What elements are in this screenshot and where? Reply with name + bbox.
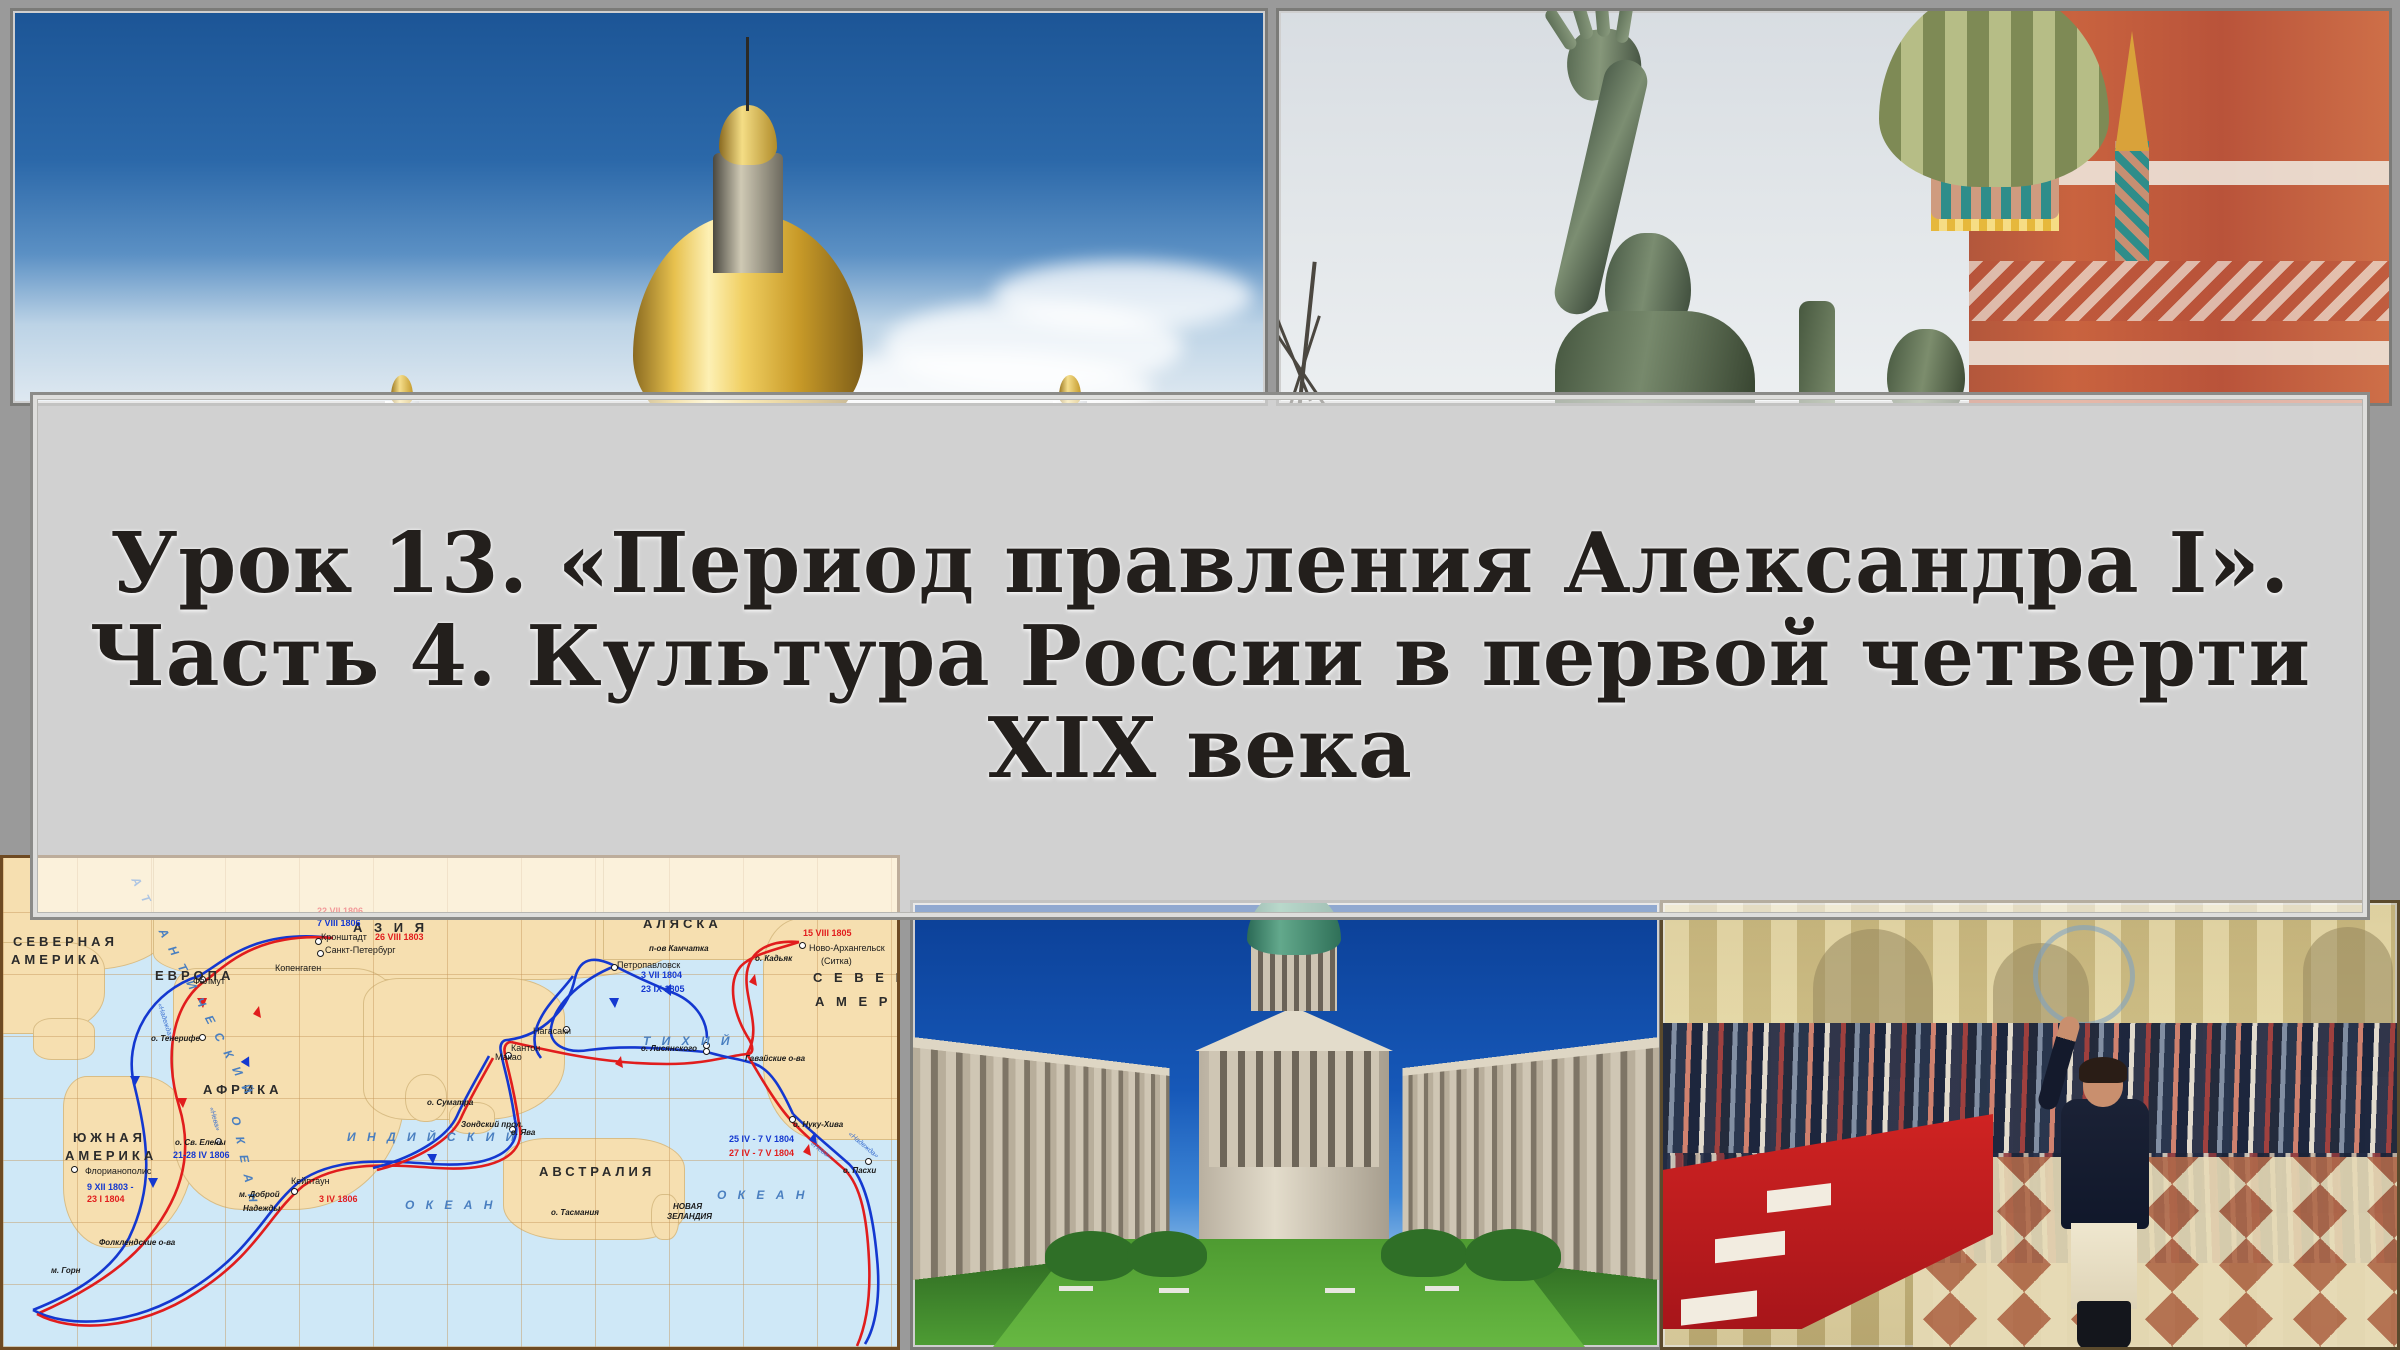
st-basil-gold-spire [2115, 31, 2149, 151]
map-label-continent: С Е В Е Р [813, 970, 900, 985]
map-label-island: Гавайские о-ва [745, 1054, 805, 1063]
map-label-island: о. Тасмания [551, 1208, 599, 1217]
map-label-city: Макао [495, 1052, 522, 1062]
map-label-date-red: 3 IV 1806 [319, 1194, 358, 1204]
isaac-cupola [719, 105, 777, 165]
map-label-city: Петропавловск [617, 960, 680, 970]
map-label-island: м. Доброй [239, 1190, 280, 1199]
map-label-city: Ново-Архангельск [809, 943, 885, 953]
map-label-city: Копенгаген [275, 963, 321, 973]
photo-circumnavigation-map: СЕВЕРНАЯАМЕРИКАЕВРОПАА З И ЯАЛЯСКААФРИКА… [0, 855, 900, 1350]
title-line-1: Урок 13. «Период правления Александра I»… [75, 517, 2325, 610]
title-line-3: XIX века [75, 702, 2325, 795]
photo-kazan-cathedral [910, 900, 1662, 1350]
map-label-continent: СЕВЕРНАЯ [13, 934, 118, 949]
map-dot-florianopolis [71, 1166, 78, 1173]
map-label-city: Флорианополис [85, 1166, 151, 1176]
map-label-city: Фалмут [193, 976, 225, 986]
map-label-island: Фолклендские о-ва [99, 1238, 175, 1247]
map-dot-tenerife [199, 1034, 206, 1041]
map-label-continent: АВСТРАЛИЯ [539, 1164, 655, 1179]
map-label-island: п-ов Камчатка [649, 944, 709, 953]
map-dot-novoarkhangelsk [799, 942, 806, 949]
map-label-island: о. Пасхи [843, 1166, 876, 1175]
map-label-city: Санкт-Петербург [325, 945, 396, 955]
pushkin-boots [2077, 1301, 2131, 1349]
map-label-continent: АМЕРИКА [11, 952, 103, 967]
map-label-island: о. Суматра [427, 1098, 473, 1107]
isaac-spire [746, 37, 749, 111]
title-line-2: Часть 4. Культура России в первой четвер… [75, 610, 2325, 703]
page-title: Урок 13. «Период правления Александра I»… [75, 517, 2325, 796]
pushkin-hair [2079, 1057, 2127, 1083]
st-basil-onion-dome [1879, 8, 2109, 187]
map-label-island: о. Тенерифе [151, 1034, 200, 1043]
pozharsky-sword [1799, 301, 1835, 406]
map-label-island: м. Горн [51, 1266, 80, 1275]
kazan-pediment [1195, 1007, 1393, 1051]
map-label-city: (Ситка) [821, 956, 852, 966]
map-label-continent: А М Е Р [815, 994, 891, 1009]
photo-minin-pozharsky-monument [1276, 8, 2392, 406]
st-basil-tent-roof [2115, 141, 2149, 261]
map-label-date-red: 15 VIII 1805 [803, 928, 852, 938]
map-dot-hawaii [703, 1048, 710, 1055]
kazan-portico-columns [1209, 1049, 1379, 1167]
map-label-island: о. Кадьяк [755, 954, 792, 963]
map-label-island: Надежды [243, 1204, 280, 1213]
pushkin-breeches [2071, 1223, 2137, 1309]
chandelier [2033, 925, 2135, 1027]
map-label-continent: АМЕРИКА [65, 1148, 157, 1163]
map-dot-spb [317, 950, 324, 957]
map-label-island: ЗЕЛАНДИЯ [667, 1212, 712, 1221]
map-label-date-red: 26 VIII 1803 [375, 932, 424, 942]
map-label-island: НОВАЯ [673, 1202, 702, 1211]
map-label-date-blue: 23 IX 1805 [641, 984, 685, 994]
title-banner: Урок 13. «Период правления Александра I»… [30, 392, 2370, 920]
map-label-date-blue: 21-28 IV 1806 [173, 1150, 230, 1160]
map-label-date-red: 27 IV - 7 V 1804 [729, 1148, 794, 1158]
map-label-city: Кронштадт [321, 932, 367, 942]
photo-repin-pushkin-exam [1660, 900, 2400, 1350]
map-label-island: о. Нуку-Хива [793, 1120, 843, 1129]
photo-isaac-cathedral [10, 8, 1268, 406]
map-label-island: о. Ява [511, 1128, 535, 1137]
map-dot-capetown [291, 1188, 298, 1195]
pushkin-uniform-coat [2061, 1099, 2149, 1229]
map-label-island: о. Св. Елены [175, 1138, 226, 1147]
map-dot-easter-island [865, 1158, 872, 1165]
map-label-city: Кейптаун [291, 1176, 330, 1186]
map-label-continent: ЮЖНАЯ [73, 1130, 146, 1145]
slide-canvas: СЕВЕРНАЯАМЕРИКАЕВРОПАА З И ЯАЛЯСКААФРИКА… [0, 0, 2400, 1350]
map-label-city: Нагасаки [533, 1026, 571, 1036]
map-label-date-blue: 9 XII 1803 - [87, 1182, 134, 1192]
map-label-ocean: О К Е А Н [717, 1188, 808, 1202]
map-label-ocean: И Н Д И Й С К И Й [347, 1130, 518, 1144]
map-label-date-red: 23 I 1804 [87, 1194, 125, 1204]
map-label-ocean: О К Е А Н [405, 1198, 496, 1212]
map-label-island: о. Лисянского [641, 1044, 697, 1053]
map-label-date-blue: 25 IV - 7 V 1804 [729, 1134, 794, 1144]
map-label-date-blue: 3 VII 1804 [641, 970, 682, 980]
isaac-lantern [713, 153, 783, 273]
